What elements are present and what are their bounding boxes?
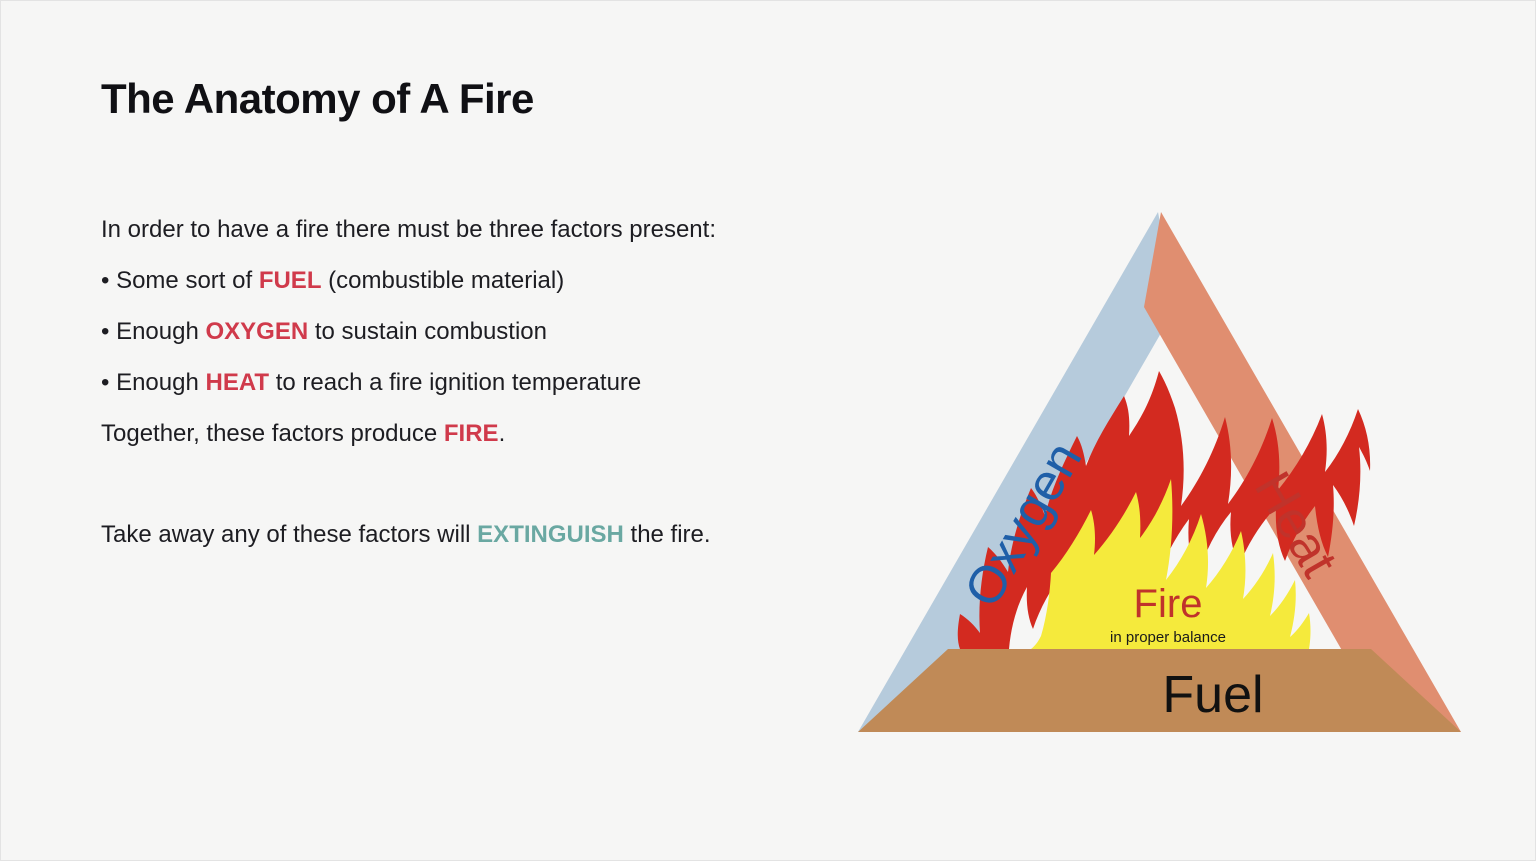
bullet-marker: • [101, 369, 109, 396]
bullet-text-pre: Enough [116, 369, 205, 396]
summary-text-post: . [499, 420, 506, 447]
list-item: • Enough HEAT to reach a fire ignition t… [101, 357, 921, 408]
summary-text-pre: Together, these factors produce [101, 420, 444, 447]
fuel-label: Fuel [1162, 666, 1263, 724]
bullet-marker: • [101, 267, 109, 294]
slide-canvas: The Anatomy of A Fire In order to have a… [0, 0, 1536, 861]
list-item: • Enough OXYGEN to sustain combustion [101, 306, 921, 357]
keyword-extinguish: EXTINGUISH [477, 521, 624, 548]
list-item: • Some sort of FUEL (combustible materia… [101, 255, 921, 306]
keyword-fuel: FUEL [259, 267, 322, 294]
bullet-text-post: to sustain combustion [308, 318, 547, 345]
bullet-text-pre: Enough [116, 318, 205, 345]
fire-center-label: Fire [1134, 582, 1203, 626]
closing-text-post: the fire. [624, 521, 711, 548]
page-title: The Anatomy of A Fire [101, 75, 534, 123]
bullet-text-post: (combustible material) [321, 267, 564, 294]
intro-text: In order to have a fire there must be th… [101, 216, 716, 243]
keyword-heat: HEAT [206, 369, 270, 396]
fire-triangle-diagram: Oxygen Heat Fuel Fire in proper balance [841, 196, 1481, 756]
intro-line: In order to have a fire there must be th… [101, 204, 921, 255]
bullet-text-post: to reach a fire ignition temperature [269, 369, 641, 396]
keyword-oxygen: OXYGEN [206, 318, 309, 345]
body-copy: In order to have a fire there must be th… [101, 204, 921, 560]
keyword-fire: FIRE [444, 420, 499, 447]
closing-text-pre: Take away any of these factors will [101, 521, 477, 548]
closing-line: Take away any of these factors will EXTI… [101, 509, 921, 560]
bullet-marker: • [101, 318, 109, 345]
fuel-band [858, 649, 1461, 732]
bullet-text-pre: Some sort of [116, 267, 259, 294]
fire-center-sublabel: in proper balance [1110, 629, 1226, 646]
summary-line: Together, these factors produce FIRE. [101, 408, 921, 459]
